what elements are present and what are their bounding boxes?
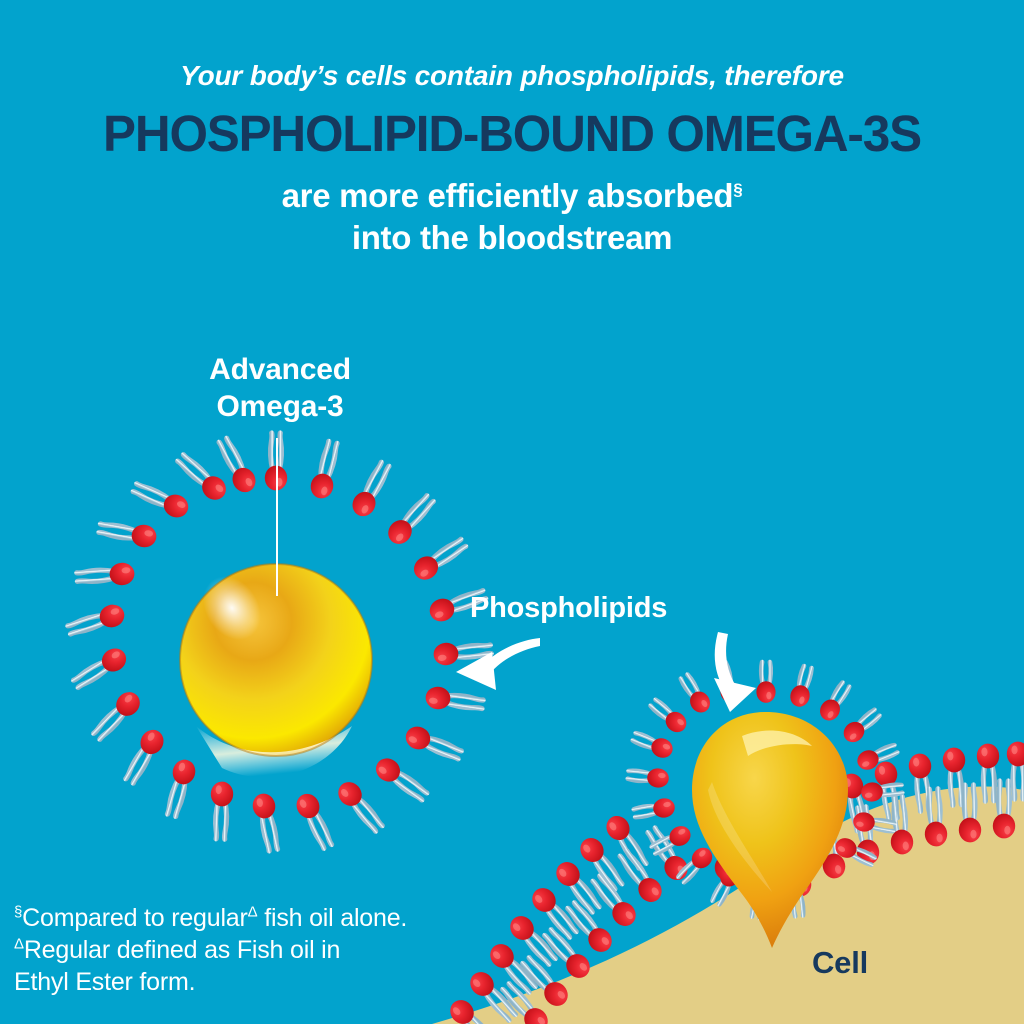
footnote-line-3: Ethyl Ester form.	[14, 966, 407, 998]
subtext-line-1: are more efficiently absorbed	[282, 177, 734, 214]
footnote-line-2: ΔRegular defined as Fish oil in	[14, 934, 407, 966]
label-advanced-line-2: Omega-3	[217, 390, 344, 423]
footnote-marker-delta-inline: Δ	[248, 904, 258, 921]
footnote-1-text-a: Compared to regular	[22, 904, 248, 932]
label-cell: Cell	[812, 945, 868, 981]
footnote-2-text: Regular defined as Fish oil in	[24, 936, 340, 964]
footnotes: §Compared to regularΔ fish oil alone. ΔR…	[14, 902, 407, 998]
leader-line-advanced-omega-3	[276, 438, 278, 596]
headline-block: Your body’s cells contain phospholipids,…	[0, 0, 1024, 259]
subtext-footnote-marker: §	[733, 180, 742, 199]
footnote-marker-section: §	[14, 904, 22, 921]
footnote-line-1: §Compared to regularΔ fish oil alone.	[14, 902, 407, 934]
footnote-1-text-b: fish oil alone.	[257, 904, 407, 932]
footnote-marker-delta: Δ	[14, 936, 24, 953]
headline-subtext: are more efficiently absorbed§ into the …	[0, 175, 1024, 259]
subtext-line-2: into the bloodstream	[352, 219, 672, 256]
infographic-canvas: Your body’s cells contain phospholipids,…	[0, 0, 1024, 1024]
label-phospholipids: Phospholipids	[470, 592, 667, 625]
label-advanced-omega-3: Advanced Omega-3	[160, 352, 400, 425]
arrow-pointing-to-membrane	[714, 632, 756, 712]
headline-eyebrow: Your body’s cells contain phospholipids,…	[0, 62, 1024, 90]
advanced-omega-3-liposome	[66, 433, 492, 852]
label-advanced-line-1: Advanced	[209, 353, 351, 386]
page-title: PHOSPHOLIPID-BOUND OMEGA-3S	[15, 108, 1008, 159]
